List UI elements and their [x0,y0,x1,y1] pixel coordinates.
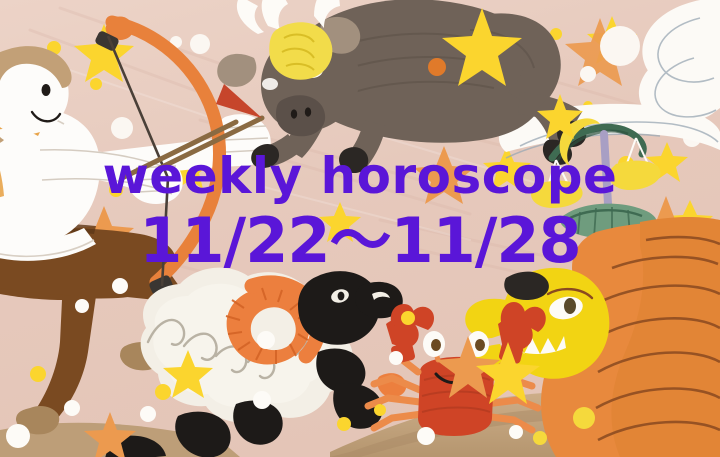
dot [112,278,128,294]
dot [30,366,46,382]
star-icon [84,412,136,457]
dot [140,406,156,422]
weekly-horoscope-banner: weekly horoscope 11/22〜11/28 [0,0,720,457]
dot [417,427,435,445]
dot [75,299,89,313]
star-icon [537,94,583,139]
dot [401,311,415,325]
dot [337,417,351,431]
decoration-stars-front [0,0,720,457]
dot [64,400,80,416]
dot [257,331,275,349]
star-icon [442,8,522,86]
dot [253,391,271,409]
dot [374,404,386,416]
dot [6,424,30,448]
dot [389,351,403,365]
dot [509,425,523,439]
